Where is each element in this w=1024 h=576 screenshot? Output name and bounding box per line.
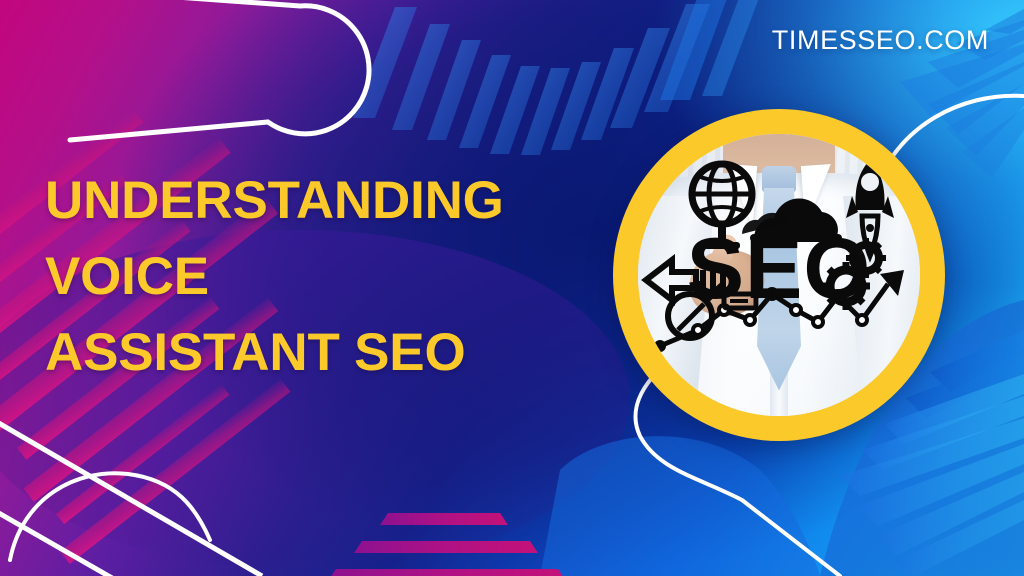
badge-photo-frame: SEO: [638, 134, 920, 416]
page-title: UNDERSTANDING VOICE ASSISTANT SEO: [45, 163, 625, 390]
site-url-text: TIMESSEO.COM: [772, 25, 989, 56]
headline-line-3: ASSISTANT SEO: [45, 315, 625, 391]
headline-line-2: VOICE: [45, 239, 625, 315]
seo-icon-overlay: SEO: [638, 134, 920, 416]
seo-blog-banner: TIMESSEO.COM UNDERSTANDING VOICE ASSISTA…: [0, 0, 1024, 576]
headline-line-1: UNDERSTANDING: [45, 163, 625, 239]
circular-image-badge: SEO: [613, 109, 945, 441]
seo-wordmark: SEO: [687, 221, 872, 317]
